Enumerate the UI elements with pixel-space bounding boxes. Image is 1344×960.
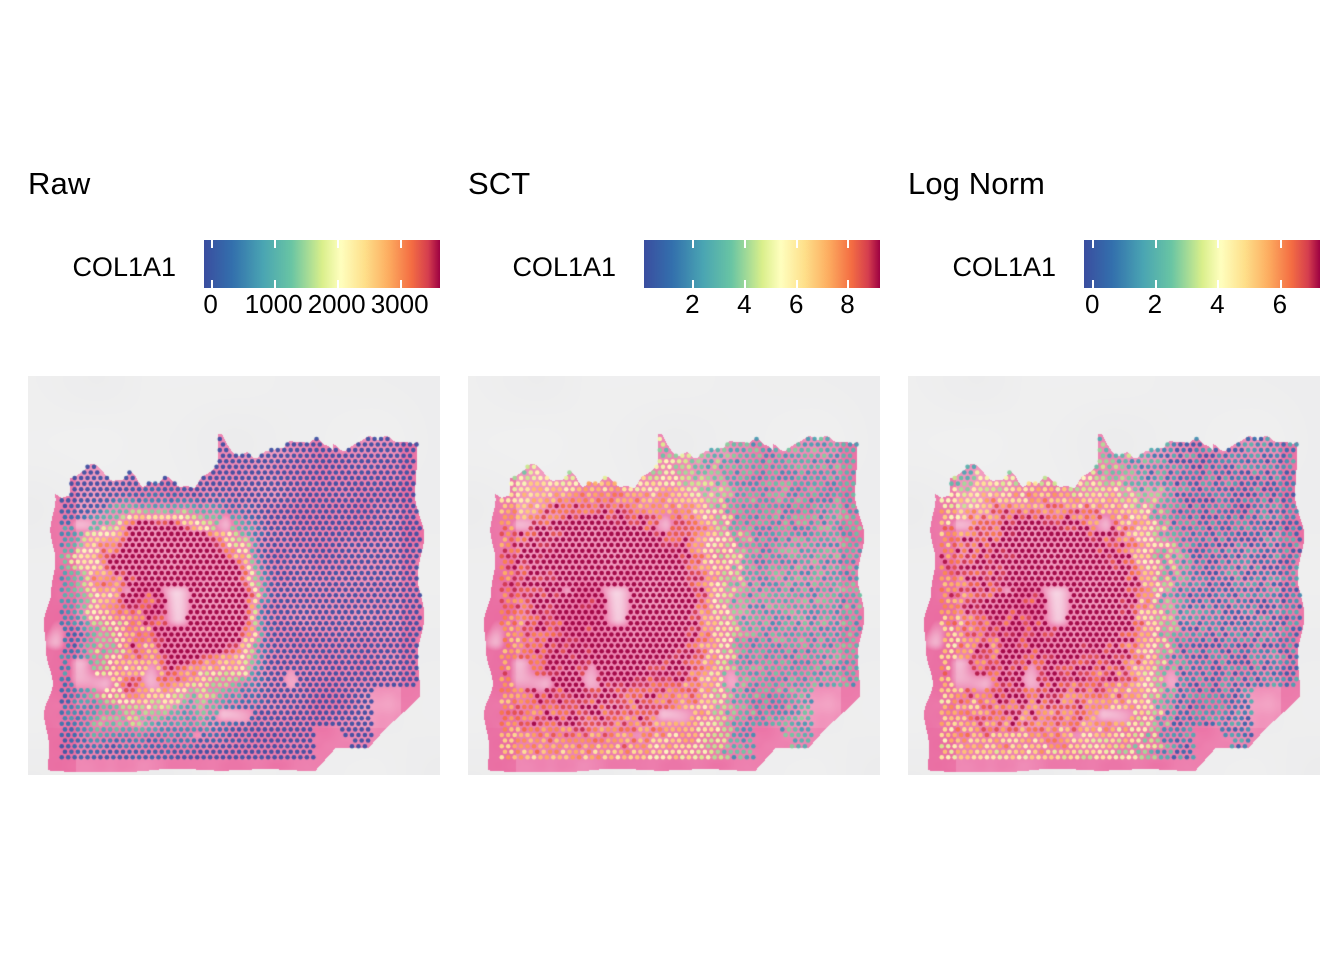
colorbar-gradient bbox=[1084, 240, 1320, 288]
colorbar-tick-label: 4 bbox=[737, 290, 751, 319]
colorbar-gradient bbox=[204, 240, 440, 288]
panel-title-sct: SCT bbox=[468, 168, 530, 199]
tissue-canvas-sct bbox=[468, 376, 880, 775]
colorbar-tick-label: 6 bbox=[1273, 290, 1287, 319]
legend: COL1A1 0100020003000 bbox=[28, 240, 440, 330]
figure-root: Raw COL1A1 0100020003000 SCT COL1A1 2468 bbox=[0, 0, 1344, 960]
tissue-canvas-lognorm bbox=[908, 376, 1320, 775]
colorbar-raw: 0100020003000 bbox=[204, 240, 440, 288]
spatial-plot-sct bbox=[468, 376, 880, 775]
legend-label-sct: COL1A1 bbox=[468, 254, 616, 281]
colorbar-lognorm: 0246 bbox=[1084, 240, 1320, 288]
colorbar-tick-label: 6 bbox=[789, 290, 803, 319]
panel-title-lognorm: Log Norm bbox=[908, 168, 1045, 199]
panel-raw: Raw COL1A1 0100020003000 bbox=[28, 0, 468, 960]
panel-title-raw: Raw bbox=[28, 168, 90, 199]
colorbar-tick-label: 0 bbox=[1085, 290, 1099, 319]
tissue-canvas-raw bbox=[28, 376, 440, 775]
legend-label-lognorm: COL1A1 bbox=[908, 254, 1056, 281]
colorbar-tick-label: 2 bbox=[685, 290, 699, 319]
colorbar-tick-labels: 0100020003000 bbox=[204, 290, 440, 324]
colorbar-tick-label: 4 bbox=[1210, 290, 1224, 319]
colorbar-gradient bbox=[644, 240, 880, 288]
colorbar-tick-label: 3000 bbox=[371, 290, 429, 319]
spatial-plot-lognorm bbox=[908, 376, 1320, 775]
panel-sct: SCT COL1A1 2468 bbox=[468, 0, 908, 960]
colorbar-tick-label: 8 bbox=[840, 290, 854, 319]
panel-lognorm: Log Norm COL1A1 0246 bbox=[908, 0, 1344, 960]
colorbar-tick-label: 0 bbox=[203, 290, 217, 319]
colorbar-tick-labels: 2468 bbox=[644, 290, 880, 324]
legend: COL1A1 2468 bbox=[468, 240, 880, 330]
colorbar-sct: 2468 bbox=[644, 240, 880, 288]
colorbar-tick-label: 2000 bbox=[308, 290, 366, 319]
colorbar-tick-label: 2 bbox=[1148, 290, 1162, 319]
legend: COL1A1 0246 bbox=[908, 240, 1320, 330]
colorbar-tick-label: 1000 bbox=[245, 290, 303, 319]
spatial-plot-raw bbox=[28, 376, 440, 775]
legend-label-raw: COL1A1 bbox=[28, 254, 176, 281]
colorbar-tick-labels: 0246 bbox=[1084, 290, 1320, 324]
